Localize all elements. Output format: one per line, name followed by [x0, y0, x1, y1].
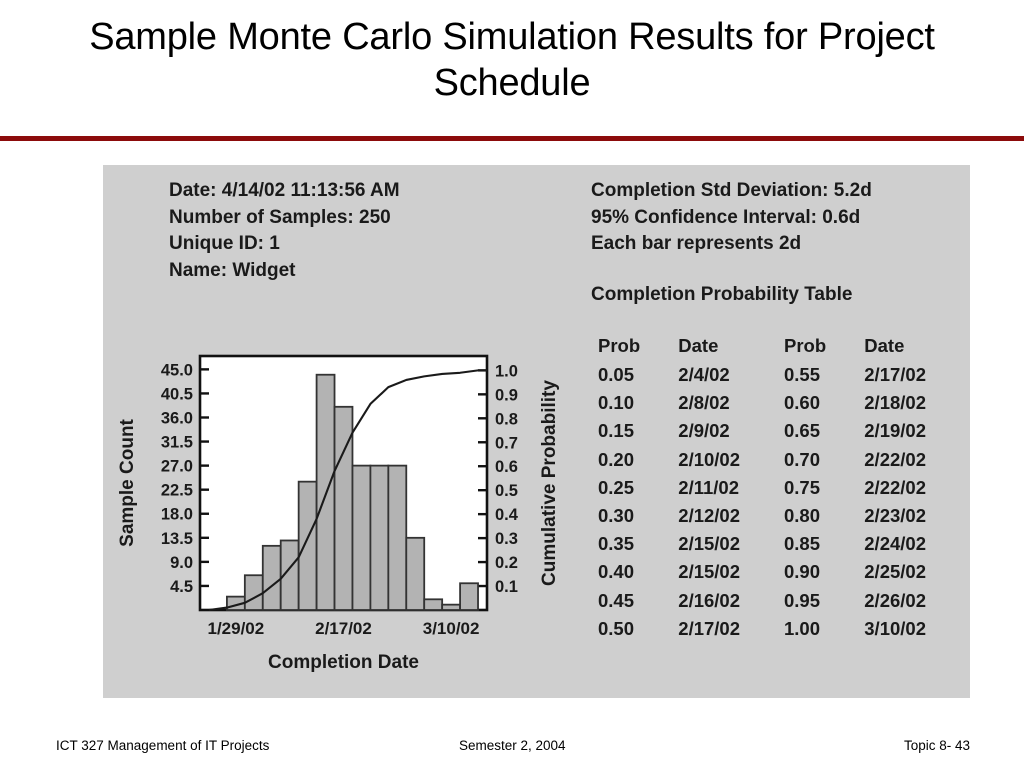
y-axis-tick-label: 45.0 — [161, 361, 193, 379]
cell-prob: 0.40 — [598, 561, 678, 589]
y2-axis-tick-label: 0.4 — [495, 506, 519, 524]
y-axis-tick-label: 22.5 — [161, 482, 193, 500]
y2-axis-tick-label: 0.3 — [495, 530, 518, 548]
histogram-bar — [299, 482, 317, 610]
cell-date: 2/22/02 — [864, 477, 970, 505]
y2-axis-title: Cumulative Probability — [539, 380, 560, 586]
cell-prob: 0.85 — [784, 533, 864, 561]
y-axis-tick-label: 40.5 — [161, 385, 193, 403]
histogram-bar — [442, 605, 460, 610]
y-axis-tick-label: 18.0 — [161, 506, 193, 524]
cell-date: 2/15/02 — [678, 533, 784, 561]
page-title: Sample Monte Carlo Simulation Results fo… — [60, 14, 964, 106]
column-header-date-1: Date — [678, 335, 784, 364]
cell-date: 2/17/02 — [864, 364, 970, 392]
cell-prob: 0.65 — [784, 420, 864, 448]
y-axis-tick-label: 36.0 — [161, 409, 193, 427]
cell-prob: 0.35 — [598, 533, 678, 561]
histogram-bar — [370, 466, 388, 610]
cell-date: 2/22/02 — [864, 449, 970, 477]
cell-prob: 0.80 — [784, 505, 864, 533]
table-header-row: Prob Date Prob Date — [598, 335, 970, 364]
table-row: 0.102/8/020.602/18/02 — [598, 392, 970, 420]
cell-prob: 0.50 — [598, 618, 678, 646]
cell-date: 3/10/02 — [864, 618, 970, 646]
cell-date: 2/10/02 — [678, 449, 784, 477]
cell-prob: 0.95 — [784, 590, 864, 618]
cell-prob: 0.60 — [784, 392, 864, 420]
table-row: 0.502/17/021.003/10/02 — [598, 618, 970, 646]
cell-prob: 0.55 — [784, 364, 864, 392]
table-row: 0.452/16/020.952/26/02 — [598, 590, 970, 618]
column-header-date-2: Date — [864, 335, 970, 364]
histogram-bar — [245, 575, 263, 610]
y-axis-tick-label: 9.0 — [170, 554, 193, 572]
cell-date: 2/26/02 — [864, 590, 970, 618]
table-row: 0.402/15/020.902/25/02 — [598, 561, 970, 589]
table-row: 0.302/12/020.802/23/02 — [598, 505, 970, 533]
cell-prob: 0.20 — [598, 449, 678, 477]
cell-date: 2/11/02 — [678, 477, 784, 505]
column-header-prob-1: Prob — [598, 335, 678, 364]
cell-prob: 1.00 — [784, 618, 864, 646]
y2-axis-tick-label: 0.9 — [495, 386, 518, 404]
cell-date: 2/4/02 — [678, 364, 784, 392]
table-row: 0.352/15/020.852/24/02 — [598, 533, 970, 561]
table-row: 0.202/10/020.702/22/02 — [598, 449, 970, 477]
histogram-bar — [406, 538, 424, 610]
footer-semester: Semester 2, 2004 — [459, 738, 566, 753]
histogram-bar — [460, 583, 478, 610]
cell-date: 2/9/02 — [678, 420, 784, 448]
simulation-statistics: Completion Std Deviation: 5.2d 95% Confi… — [591, 178, 872, 258]
footer-course: ICT 327 Management of IT Projects — [56, 738, 269, 753]
chart-svg: 4.59.013.518.022.527.031.536.040.545.00.… — [103, 345, 573, 695]
probability-table-title: Completion Probability Table — [591, 284, 852, 306]
cell-prob: 0.45 — [598, 590, 678, 618]
cell-date: 2/18/02 — [864, 392, 970, 420]
y2-axis-tick-label: 0.1 — [495, 578, 518, 596]
cell-date: 2/19/02 — [864, 420, 970, 448]
x-axis-tick-label: 2/17/02 — [315, 619, 372, 638]
cell-prob: 0.30 — [598, 505, 678, 533]
cell-prob: 0.10 — [598, 392, 678, 420]
cell-prob: 0.75 — [784, 477, 864, 505]
y-axis-tick-label: 4.5 — [170, 578, 193, 596]
footer-topic: Topic 8- 43 — [904, 738, 970, 753]
y2-axis-tick-label: 0.7 — [495, 434, 518, 452]
cell-date: 2/8/02 — [678, 392, 784, 420]
column-header-prob-2: Prob — [784, 335, 864, 364]
cell-prob: 0.70 — [784, 449, 864, 477]
table-row: 0.052/4/020.552/17/02 — [598, 364, 970, 392]
cell-prob: 0.90 — [784, 561, 864, 589]
cell-date: 2/15/02 — [678, 561, 784, 589]
x-axis-title: Completion Date — [268, 652, 419, 673]
title-divider — [0, 136, 1024, 141]
monte-carlo-histogram-chart: 4.59.013.518.022.527.031.536.040.545.00.… — [103, 345, 573, 695]
cell-date: 2/12/02 — [678, 505, 784, 533]
histogram-bar — [352, 466, 370, 610]
x-axis-tick-label: 1/29/02 — [208, 619, 265, 638]
cell-date: 2/23/02 — [864, 505, 970, 533]
y-axis-tick-label: 27.0 — [161, 458, 193, 476]
completion-probability-table: Prob Date Prob Date 0.052/4/020.552/17/0… — [598, 335, 970, 646]
cell-prob: 0.05 — [598, 364, 678, 392]
simulation-report-panel: Date: 4/14/02 11:13:56 AM Number of Samp… — [103, 165, 970, 698]
histogram-bar — [388, 466, 406, 610]
slide-footer: ICT 327 Management of IT Projects Semest… — [0, 738, 1024, 762]
histogram-bar — [424, 599, 442, 610]
y2-axis-tick-label: 0.2 — [495, 554, 518, 572]
cell-date: 2/17/02 — [678, 618, 784, 646]
y2-axis-tick-label: 0.8 — [495, 410, 518, 428]
cell-prob: 0.25 — [598, 477, 678, 505]
cell-date: 2/25/02 — [864, 561, 970, 589]
histogram-bar — [263, 546, 281, 610]
y2-axis-tick-label: 0.6 — [495, 458, 518, 476]
y2-axis-tick-label: 0.5 — [495, 482, 518, 500]
y-axis-title: Sample Count — [117, 418, 138, 546]
table-body: 0.052/4/020.552/17/020.102/8/020.602/18/… — [598, 364, 970, 646]
y2-axis-tick-label: 1.0 — [495, 362, 518, 380]
table-row: 0.252/11/020.752/22/02 — [598, 477, 970, 505]
y-axis-tick-label: 13.5 — [161, 530, 193, 548]
x-axis-tick-label: 3/10/02 — [423, 619, 480, 638]
cell-prob: 0.15 — [598, 420, 678, 448]
table-row: 0.152/9/020.652/19/02 — [598, 420, 970, 448]
cell-date: 2/16/02 — [678, 590, 784, 618]
cell-date: 2/24/02 — [864, 533, 970, 561]
y-axis-tick-label: 31.5 — [161, 434, 193, 452]
simulation-metadata: Date: 4/14/02 11:13:56 AM Number of Samp… — [169, 178, 400, 284]
